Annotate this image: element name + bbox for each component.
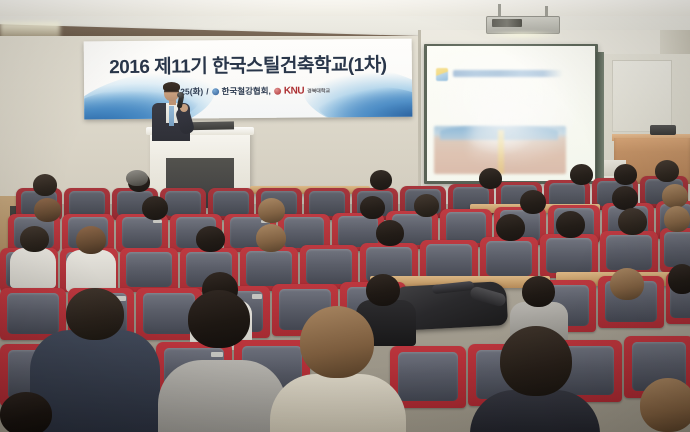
knu-logo-icon: [274, 87, 281, 94]
seat: [480, 237, 538, 281]
banner-title: 2016 제11기 한국스틸건축학교(1차): [84, 50, 412, 80]
projector-glow: [480, 30, 566, 40]
attendee-head: [612, 186, 638, 210]
speaker-hair: [163, 82, 180, 91]
attendee-head: [188, 290, 250, 348]
attendee-head: [570, 164, 593, 185]
attendee-head: [496, 214, 525, 241]
screen-glare: [470, 70, 590, 170]
attendee-head: [142, 196, 168, 220]
attendee-body: [10, 248, 56, 288]
attendee-body: [158, 360, 286, 432]
banner-knu-sub: 경북대학교: [307, 87, 330, 94]
ceiling-soffit: [0, 0, 690, 16]
event-banner: 2016 제11기 한국스틸건축학교(1차) .10.25(화) / 한국철강협…: [84, 39, 413, 120]
booth-panel: [612, 60, 672, 132]
attendee-head: [258, 198, 285, 223]
attendee-head: [610, 268, 644, 300]
attendee-head: [618, 208, 647, 235]
projector-lens-icon: [492, 19, 522, 27]
attendee-head: [366, 274, 400, 306]
seat: [390, 346, 466, 408]
attendee-head: [479, 168, 502, 189]
attendee-head: [556, 211, 585, 238]
attendee-head: [376, 220, 404, 246]
banner-organizer-1: 한국철강협회,: [222, 85, 271, 97]
attendee-head: [522, 276, 555, 307]
attendee-head: [655, 160, 679, 182]
attendee-head: [0, 392, 52, 432]
attendee-head: [500, 326, 572, 396]
attendee-head: [520, 190, 546, 214]
attendee-body: [66, 250, 116, 292]
banner-knu-mark: KNU: [284, 85, 304, 96]
association-logo-icon: [212, 88, 219, 95]
booth-doorway: [596, 52, 604, 182]
attendee-head: [662, 184, 688, 208]
attendee-head: [300, 306, 374, 378]
attendee-head: [370, 170, 392, 190]
attendee-head: [126, 170, 148, 186]
attendee-head: [196, 226, 225, 252]
lecture-hall-photo: 2016 제11기 한국스틸건축학교(1차) .10.25(화) / 한국철강협…: [0, 0, 690, 432]
attendee-head: [34, 198, 61, 222]
seat: [120, 248, 178, 292]
attendee-head: [66, 288, 124, 340]
speaker-tie: [169, 106, 174, 126]
attendee-head: [414, 194, 439, 217]
attendee-head: [33, 174, 57, 196]
banner-separator: /: [206, 86, 208, 96]
attendee-head: [640, 378, 690, 432]
attendee-head: [76, 226, 106, 254]
attendee-body: [270, 374, 406, 432]
attendee-head: [614, 164, 637, 185]
attendee-head: [664, 206, 690, 232]
booth-device-icon: [650, 125, 676, 135]
attendee-head: [360, 196, 385, 219]
seat: [116, 214, 168, 252]
attendee-head: [256, 224, 286, 252]
microphone-head-icon: [177, 92, 184, 98]
attendee-head: [668, 264, 690, 294]
attendee-head: [20, 226, 49, 252]
slide-logo-icon: [436, 68, 448, 81]
